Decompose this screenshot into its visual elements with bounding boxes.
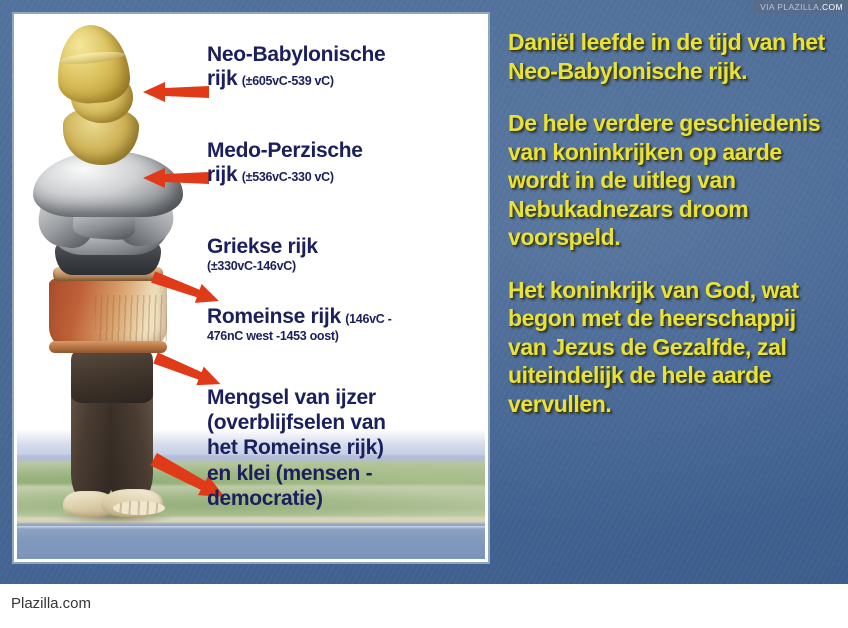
slide-canvas: Neo-Babylonische rijk (±605vC-539 vC) Me… (0, 0, 848, 584)
caption-romeinse-rijk: Romeinse rijk (146vC - 476nC west -1453 … (207, 305, 485, 343)
commentary-column: Daniël leefde in de tijd van het Neo-Bab… (508, 28, 838, 418)
caption-line2: (overblijfselen van (207, 410, 485, 435)
page-footer: Plazilla.com (0, 584, 848, 628)
caption-title-line2: rijk (207, 163, 237, 186)
caption-dates: (±536vC-330 vC) (242, 170, 334, 184)
commentary-paragraph-1: Daniël leefde in de tijd van het Neo-Bab… (508, 28, 838, 85)
footer-site-label[interactable]: Plazilla.com (11, 595, 91, 612)
caption-title-line1: Romeinse rijk (207, 305, 341, 328)
caption-line3: het Romeinse rijk) (207, 435, 485, 460)
caption-line5: democratie) (207, 486, 485, 511)
caption-griekse-rijk: Griekse rijk (±330vC-146vC) (207, 235, 485, 273)
illustration-panel: Neo-Babylonische rijk (±605vC-539 vC) Me… (12, 12, 490, 564)
caption-dates: (±330vC-146vC) (207, 259, 485, 273)
watermark-text-domain: .COM (819, 2, 843, 12)
caption-mengsel-ijzer-klei: Mengsel van ijzer (overblijfselen van he… (207, 385, 485, 511)
caption-title-line2-row: rijk (±536vC-330 vC) (207, 163, 485, 187)
statue-gold-turban (54, 23, 131, 106)
caption-dates-line1: (146vC - (345, 312, 391, 326)
caption-title-line1: Neo-Babylonische (207, 43, 485, 67)
caption-line4: en klei (mensen - (207, 461, 485, 486)
caption-title-line1-row: Romeinse rijk (146vC - (207, 305, 485, 329)
caption-dates-line2: 476nC west -1453 oost) (207, 329, 485, 343)
statue-bronze-skirt-hem (49, 341, 167, 353)
illustration-inner: Neo-Babylonische rijk (±605vC-539 vC) Me… (17, 17, 485, 559)
statue-iron-thighs (71, 345, 153, 403)
plazilla-watermark: VIA PLAZILLA.COM (753, 0, 848, 13)
caption-title-line1: Medo-Perzische (207, 139, 485, 163)
caption-title-line2-row: rijk (±605vC-539 vC) (207, 67, 485, 91)
caption-line1: Mengsel van ijzer (207, 385, 485, 410)
arrow-to-gold-head (143, 79, 209, 105)
caption-medo-perzische-rijk: Medo-Perzische rijk (±536vC-330 vC) (207, 139, 485, 187)
commentary-paragraph-3: Het koninkrijk van God, wat begon met de… (508, 276, 838, 419)
caption-title-line2: rijk (207, 67, 237, 90)
arrow-to-silver-chest (143, 165, 209, 191)
caption-neo-babylonische-rijk: Neo-Babylonische rijk (±605vC-539 vC) (207, 43, 485, 91)
watermark-text-primary: VIA PLAZILLA (760, 2, 819, 12)
caption-dates: (±605vC-539 vC) (242, 74, 334, 88)
caption-title-line1: Griekse rijk (207, 235, 485, 259)
commentary-paragraph-2: De hele verdere geschiedenis van koninkr… (508, 109, 838, 252)
